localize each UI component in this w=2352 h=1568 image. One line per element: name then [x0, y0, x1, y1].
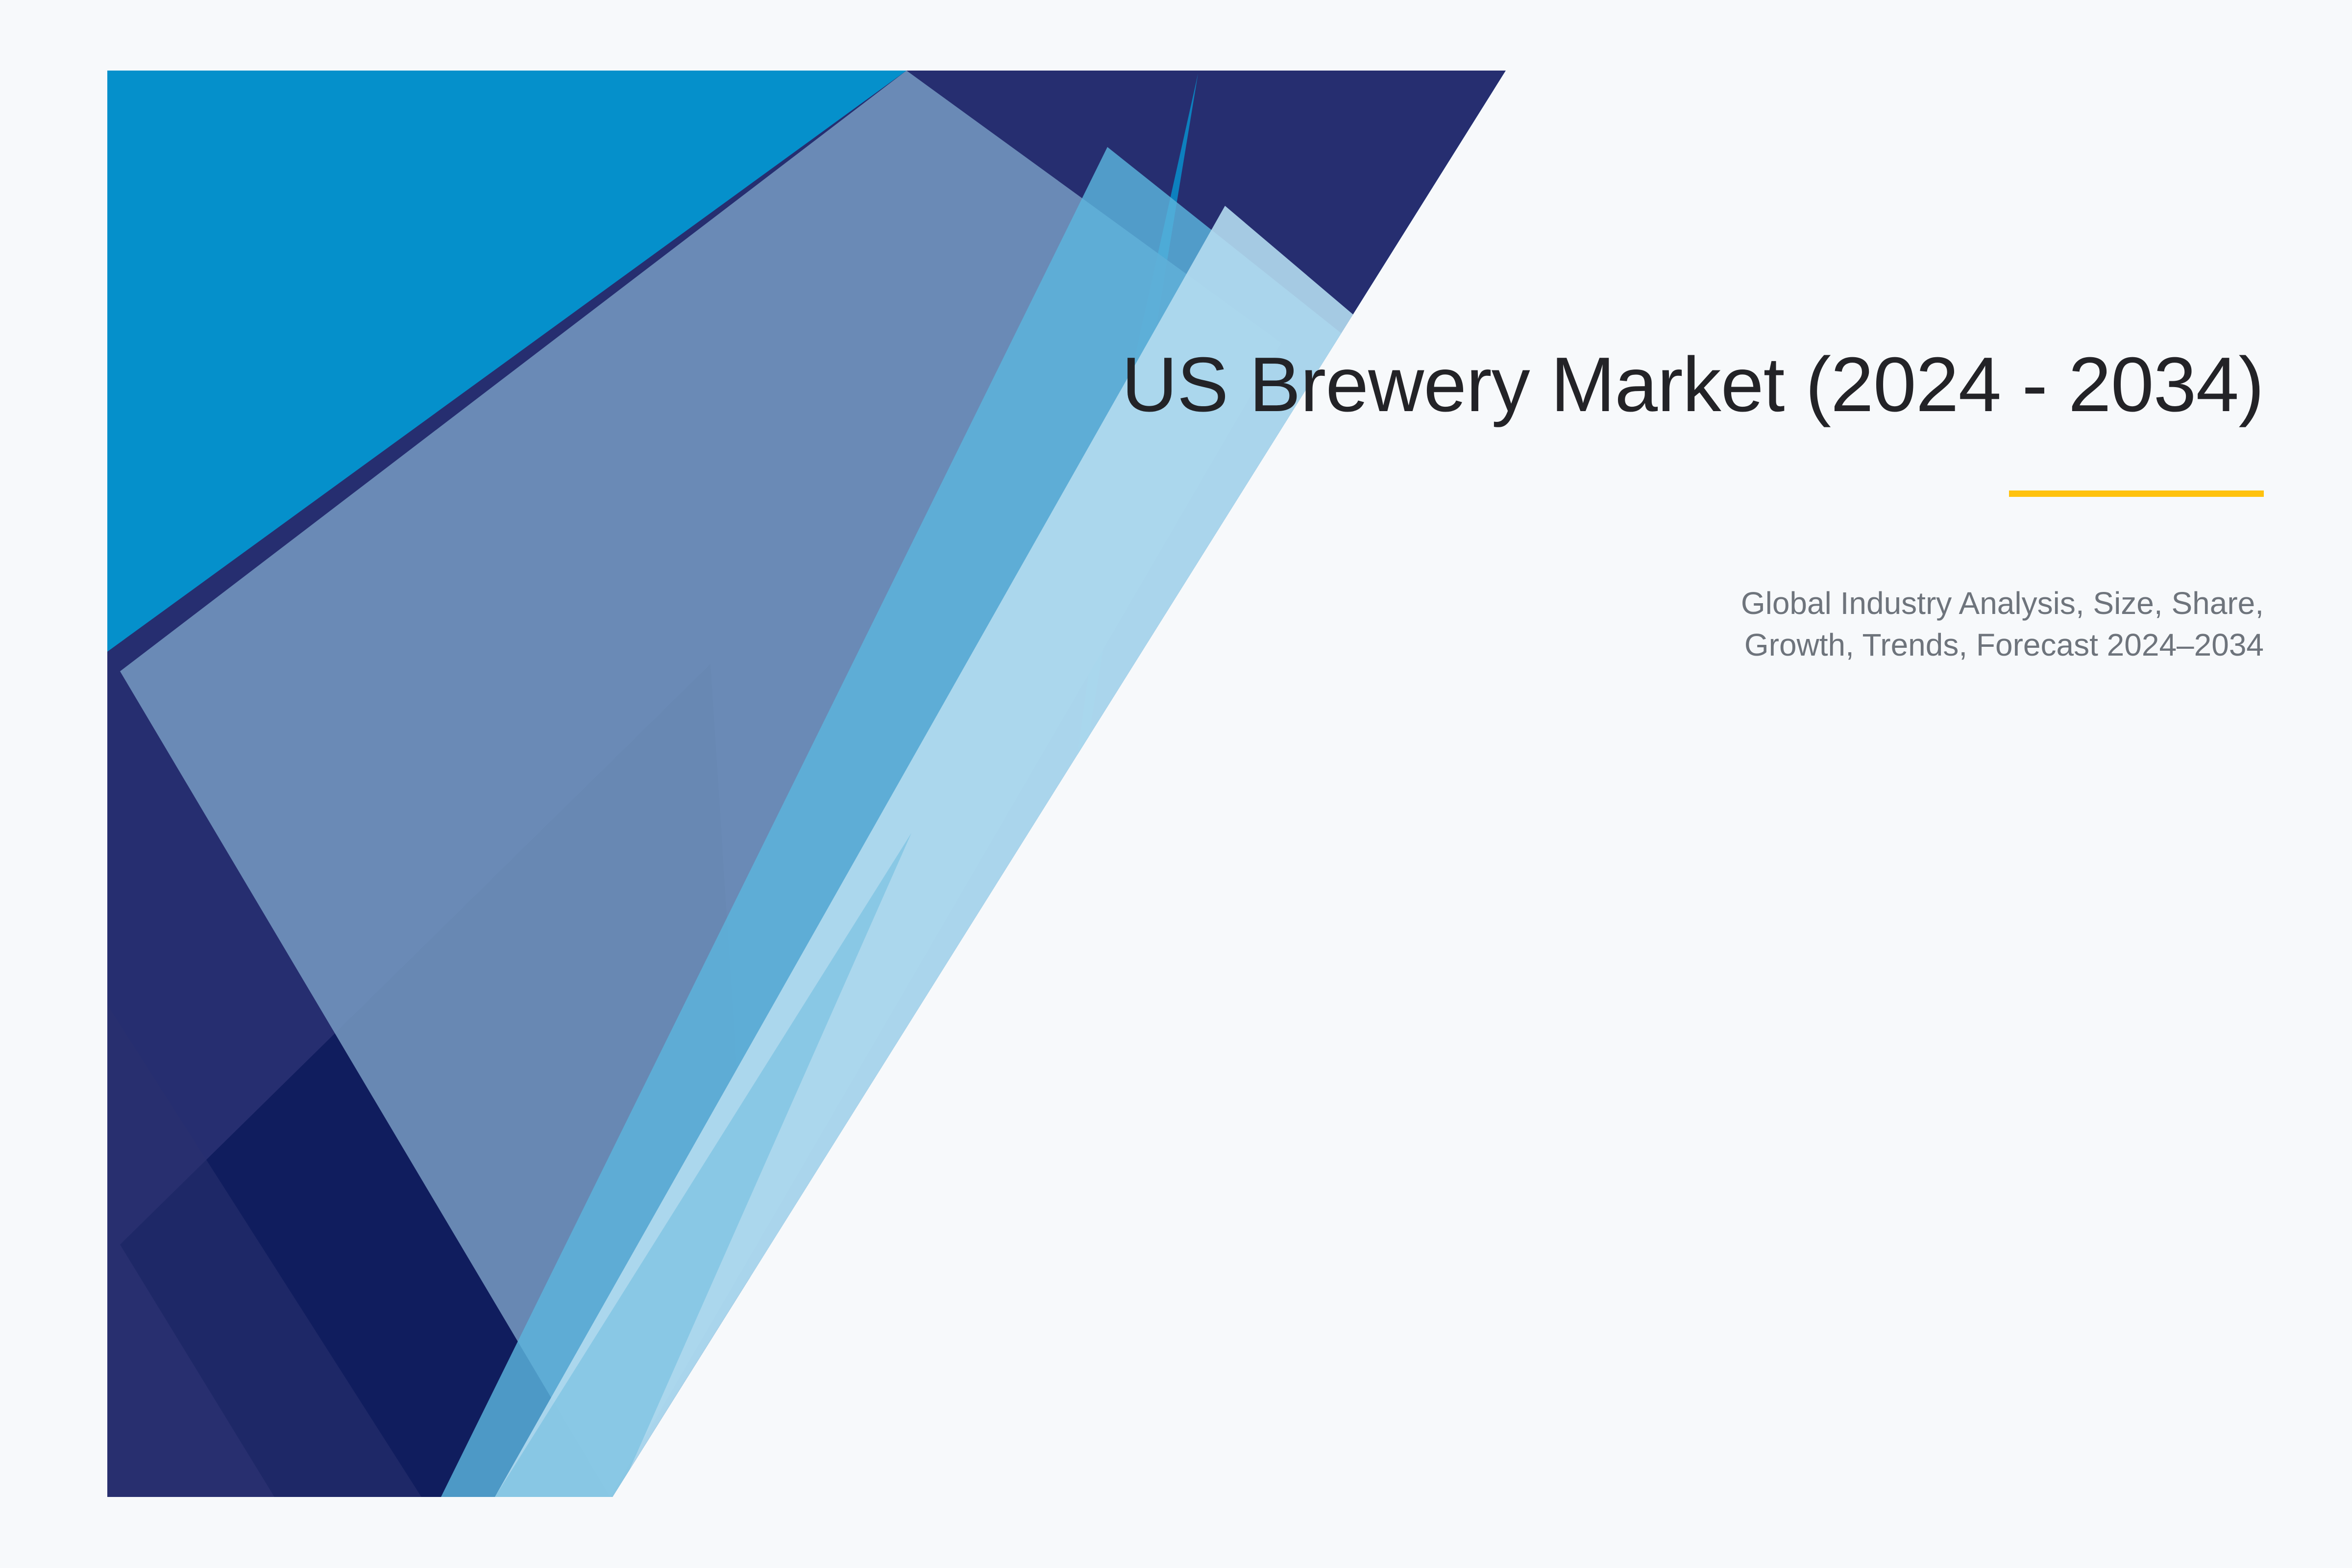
- shape-navy-overlay: [107, 1004, 421, 1497]
- accent-rule-container: [980, 490, 2264, 497]
- shape-slate-quad: [120, 71, 1281, 1497]
- shape-navy-field: [107, 71, 1506, 1497]
- shape-bright-blue-field: [107, 71, 1506, 1497]
- shape-light-blue-v: [495, 833, 911, 1497]
- shape-deep-navy-wedge: [120, 664, 764, 1497]
- page-title: US Brewery Market (2024 - 2034): [980, 343, 2264, 427]
- page-subtitle: Global Industry Analysis, Size, Share, G…: [1627, 583, 2264, 666]
- accent-rule: [2009, 490, 2264, 497]
- geometric-artwork: [0, 0, 2352, 1568]
- cover-text-column: US Brewery Market (2024 - 2034) Global I…: [980, 343, 2264, 666]
- report-cover-page: US Brewery Market (2024 - 2034) Global I…: [0, 0, 2352, 1568]
